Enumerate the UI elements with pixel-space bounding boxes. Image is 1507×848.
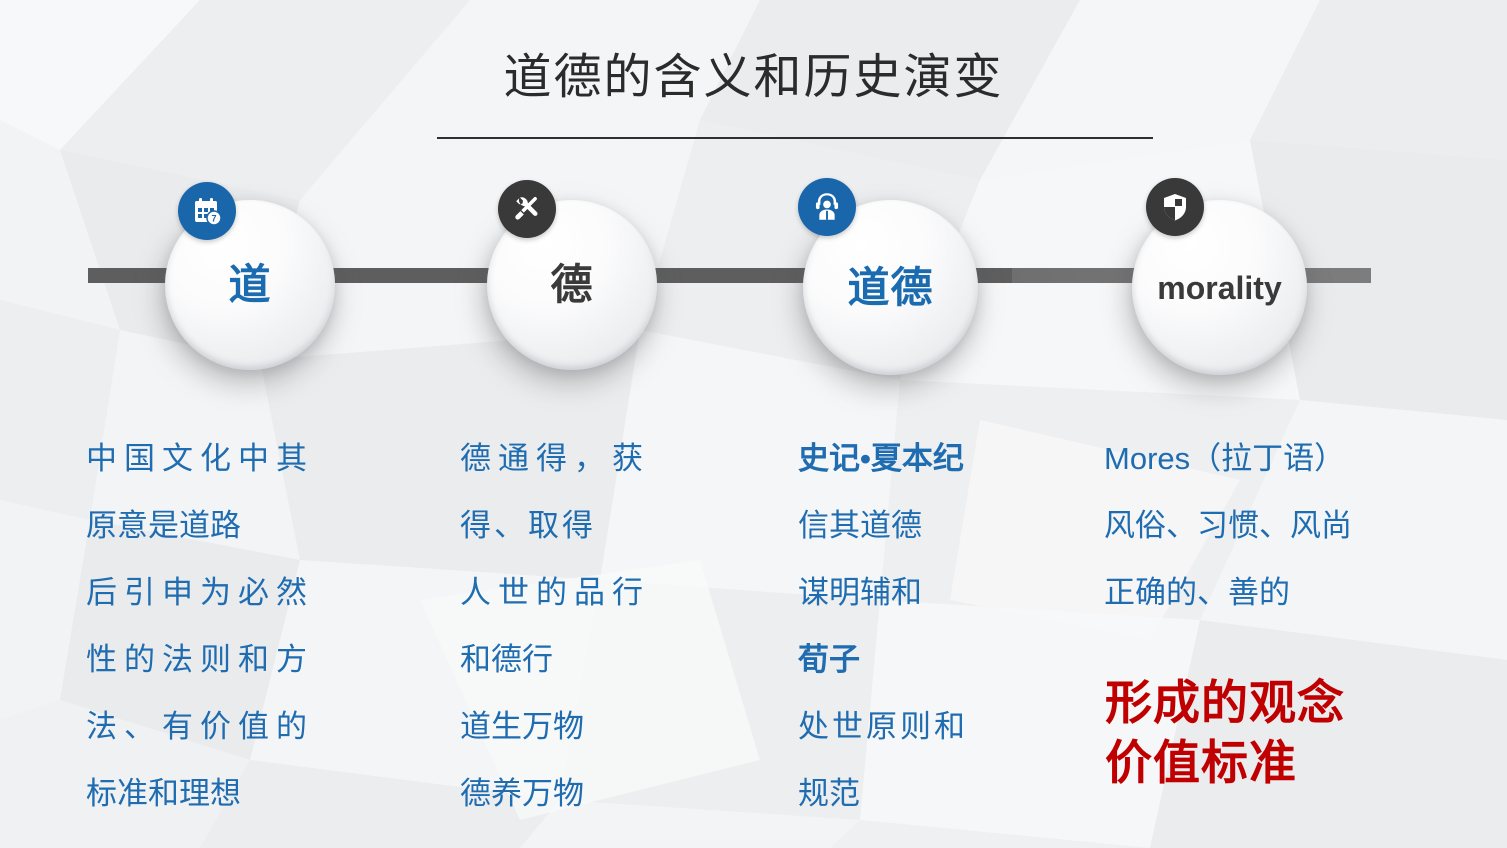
column-line: 法、有价值的 (86, 693, 386, 760)
node-label: 道 (228, 264, 271, 306)
column-morality: Mores（拉丁语） 风俗、习惯、风尚 正确的、善的 (1104, 425, 1444, 626)
node-label: morality (1157, 272, 1281, 304)
column-line: 性的法则和方 (86, 626, 386, 693)
column-de: 德通得，获 得、取得 人世的品行 和德行 道生万物 德养万物 (460, 425, 740, 827)
column-line: 德养万物 (460, 760, 740, 827)
column-line: 正确的、善的 (1104, 559, 1444, 626)
column-dao: 中国文化中其 原意是道路 后引申为必然 性的法则和方 法、有价值的 标准和理想 (86, 425, 386, 827)
calendar-7-icon: 7 (178, 182, 236, 240)
column-line: 信其道德 (798, 492, 1068, 559)
column-line: 德通得，获 (460, 425, 740, 492)
column-line: 规范 (798, 760, 1068, 827)
highlight-line-2: 价值标准 (1105, 733, 1345, 793)
column-line: 史记•夏本纪 (798, 425, 1068, 492)
column-line: 原意是道路 (86, 492, 386, 559)
highlight-line-1: 形成的观念 (1105, 673, 1345, 733)
column-line: 后引申为必然 (86, 559, 386, 626)
shield-icon (1146, 178, 1204, 236)
node-label: 道德 (847, 267, 933, 309)
column-daode: 史记•夏本纪 信其道德 谋明辅和 荀子 处世原则和 规范 (798, 425, 1068, 827)
column-line: 处世原则和 (798, 693, 1068, 760)
column-line: 谋明辅和 (798, 559, 1068, 626)
column-line: 荀子 (798, 626, 1068, 693)
column-line: 中国文化中其 (86, 425, 386, 492)
svg-text:7: 7 (211, 214, 216, 224)
column-line: 标准和理想 (86, 760, 386, 827)
column-line: 和德行 (460, 626, 740, 693)
node-label: 德 (550, 264, 593, 306)
title-divider (437, 137, 1153, 139)
title-container: 道德的含义和历史演变 (0, 52, 1507, 105)
tools-icon (498, 180, 556, 238)
column-line: 风俗、习惯、风尚 (1104, 492, 1444, 559)
column-line: 人世的品行 (460, 559, 740, 626)
column-line: 得、取得 (460, 492, 740, 559)
support-agent-icon (798, 178, 856, 236)
slide-canvas: 道德的含义和历史演变 道 7 德 (0, 0, 1507, 848)
column-line: Mores（拉丁语） (1104, 425, 1444, 492)
column-line: 道生万物 (460, 693, 740, 760)
highlight-callout: 形成的观念 价值标准 (1105, 673, 1345, 793)
page-title: 道德的含义和历史演变 (0, 52, 1507, 105)
